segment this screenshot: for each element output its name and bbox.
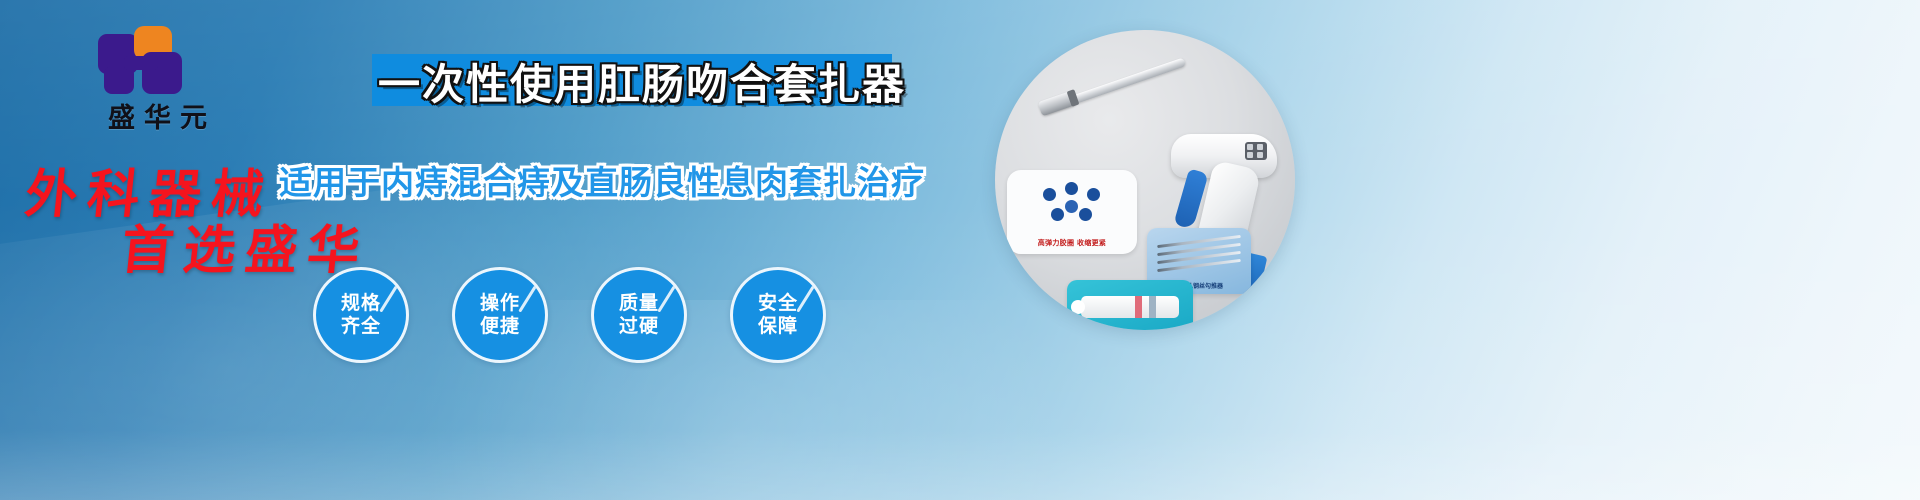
feature-badge-2-line2: 过硬 bbox=[619, 315, 659, 338]
brand-name: 盛华元 bbox=[62, 96, 262, 135]
page-subtitle: 适用于内痔混合痔及直肠良性息肉套扎治疗 bbox=[292, 158, 912, 202]
feature-badge-0-line1: 规格 bbox=[341, 292, 381, 315]
slash-accent-icon bbox=[379, 285, 397, 312]
feature-badge-2-line1: 质量 bbox=[619, 292, 659, 315]
instrument-button-pad bbox=[1245, 142, 1267, 160]
button-dot bbox=[1257, 152, 1263, 158]
device-band bbox=[1135, 296, 1142, 318]
button-dot bbox=[1247, 144, 1253, 150]
button-dot bbox=[1257, 144, 1263, 150]
rubber-ring bbox=[1051, 208, 1064, 221]
bottom-glow bbox=[0, 430, 1920, 500]
rubber-ring bbox=[1079, 208, 1092, 221]
feature-badge-0-line2: 齐全 bbox=[341, 315, 381, 338]
feature-badge-1-line1: 操作 bbox=[480, 292, 520, 315]
device-tip bbox=[1071, 300, 1085, 314]
logo-shape-connector bbox=[124, 56, 158, 70]
rubber-ring bbox=[1065, 200, 1078, 213]
rubber-ring bbox=[1043, 188, 1056, 201]
promo-banner: 盛华元 外科器械 首选盛华 一次性使用肛肠吻合套扎器 适用于内痔混合痔及直肠良性… bbox=[0, 0, 1920, 500]
product-photo-disc: 高弹力胶圈 收缩更紧 活动孔钢丝勾推器 bbox=[995, 30, 1295, 330]
brand-logo: 盛华元 bbox=[62, 26, 262, 126]
device-band bbox=[1149, 296, 1156, 318]
feature-badge-3[interactable]: 安全 保障 bbox=[730, 267, 826, 363]
inset-device bbox=[1067, 280, 1193, 330]
feature-badge-list: 规格 齐全 操作 便捷 质量 过硬 安全 保障 bbox=[313, 267, 843, 362]
slash-accent-icon bbox=[657, 285, 675, 312]
rubber-ring bbox=[1087, 188, 1100, 201]
feature-badge-0[interactable]: 规格 齐全 bbox=[313, 267, 409, 363]
button-dot bbox=[1247, 152, 1253, 158]
inset-rubber-rings: 高弹力胶圈 收缩更紧 bbox=[1007, 170, 1137, 254]
feature-badge-2[interactable]: 质量 过硬 bbox=[591, 267, 687, 363]
device-cartridge bbox=[1081, 296, 1179, 318]
inset-rings-caption: 高弹力胶圈 收缩更紧 bbox=[1007, 238, 1137, 248]
feature-badge-1[interactable]: 操作 便捷 bbox=[452, 267, 548, 363]
slash-accent-icon bbox=[518, 285, 536, 312]
logo-mark-icon bbox=[98, 26, 190, 94]
feature-badge-3-line1: 安全 bbox=[758, 292, 798, 315]
product-photo: 高弹力胶圈 收缩更紧 活动孔钢丝勾推器 bbox=[995, 30, 1295, 330]
logo-shape-bottom-left bbox=[104, 66, 134, 94]
slash-accent-icon bbox=[796, 285, 814, 312]
feature-badge-1-line2: 便捷 bbox=[480, 315, 520, 338]
rubber-ring bbox=[1065, 182, 1078, 195]
page-title: 一次性使用肛肠吻合套扎器 bbox=[332, 52, 952, 110]
feature-badge-3-line2: 保障 bbox=[758, 315, 798, 338]
